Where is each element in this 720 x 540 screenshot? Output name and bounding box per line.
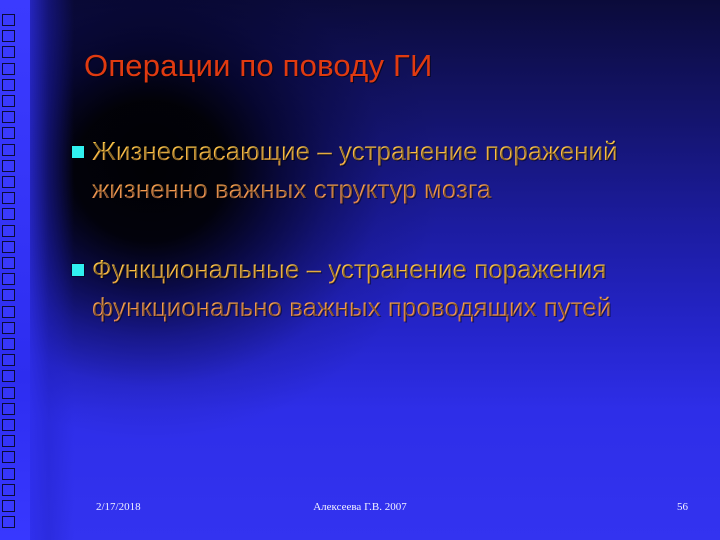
footer-author: Алексеева Г.В. 2007 xyxy=(0,500,720,514)
slide-title: Операции по поводу ГИ xyxy=(84,46,684,86)
list-item-text: Жизнеспасающие – устранение поражений жи… xyxy=(92,132,666,208)
presentation-slide: Операции по поводу ГИ Жизнеспасающие – у… xyxy=(0,0,720,540)
list-item: Жизнеспасающие – устранение поражений жи… xyxy=(66,132,666,208)
bullet-list: Жизнеспасающие – устранение поражений жи… xyxy=(66,132,666,326)
footer-page-number: 56 xyxy=(677,500,688,514)
square-bullet-icon xyxy=(72,146,84,158)
slide-footer: 2/17/2018 Алексеева Г.В. 2007 56 xyxy=(0,500,720,522)
list-item: Функциональные – устранение поражения фу… xyxy=(66,250,666,326)
square-bullet-icon xyxy=(72,264,84,276)
slide-content: Операции по поводу ГИ Жизнеспасающие – у… xyxy=(0,0,720,540)
list-item-text: Функциональные – устранение поражения фу… xyxy=(92,250,666,326)
